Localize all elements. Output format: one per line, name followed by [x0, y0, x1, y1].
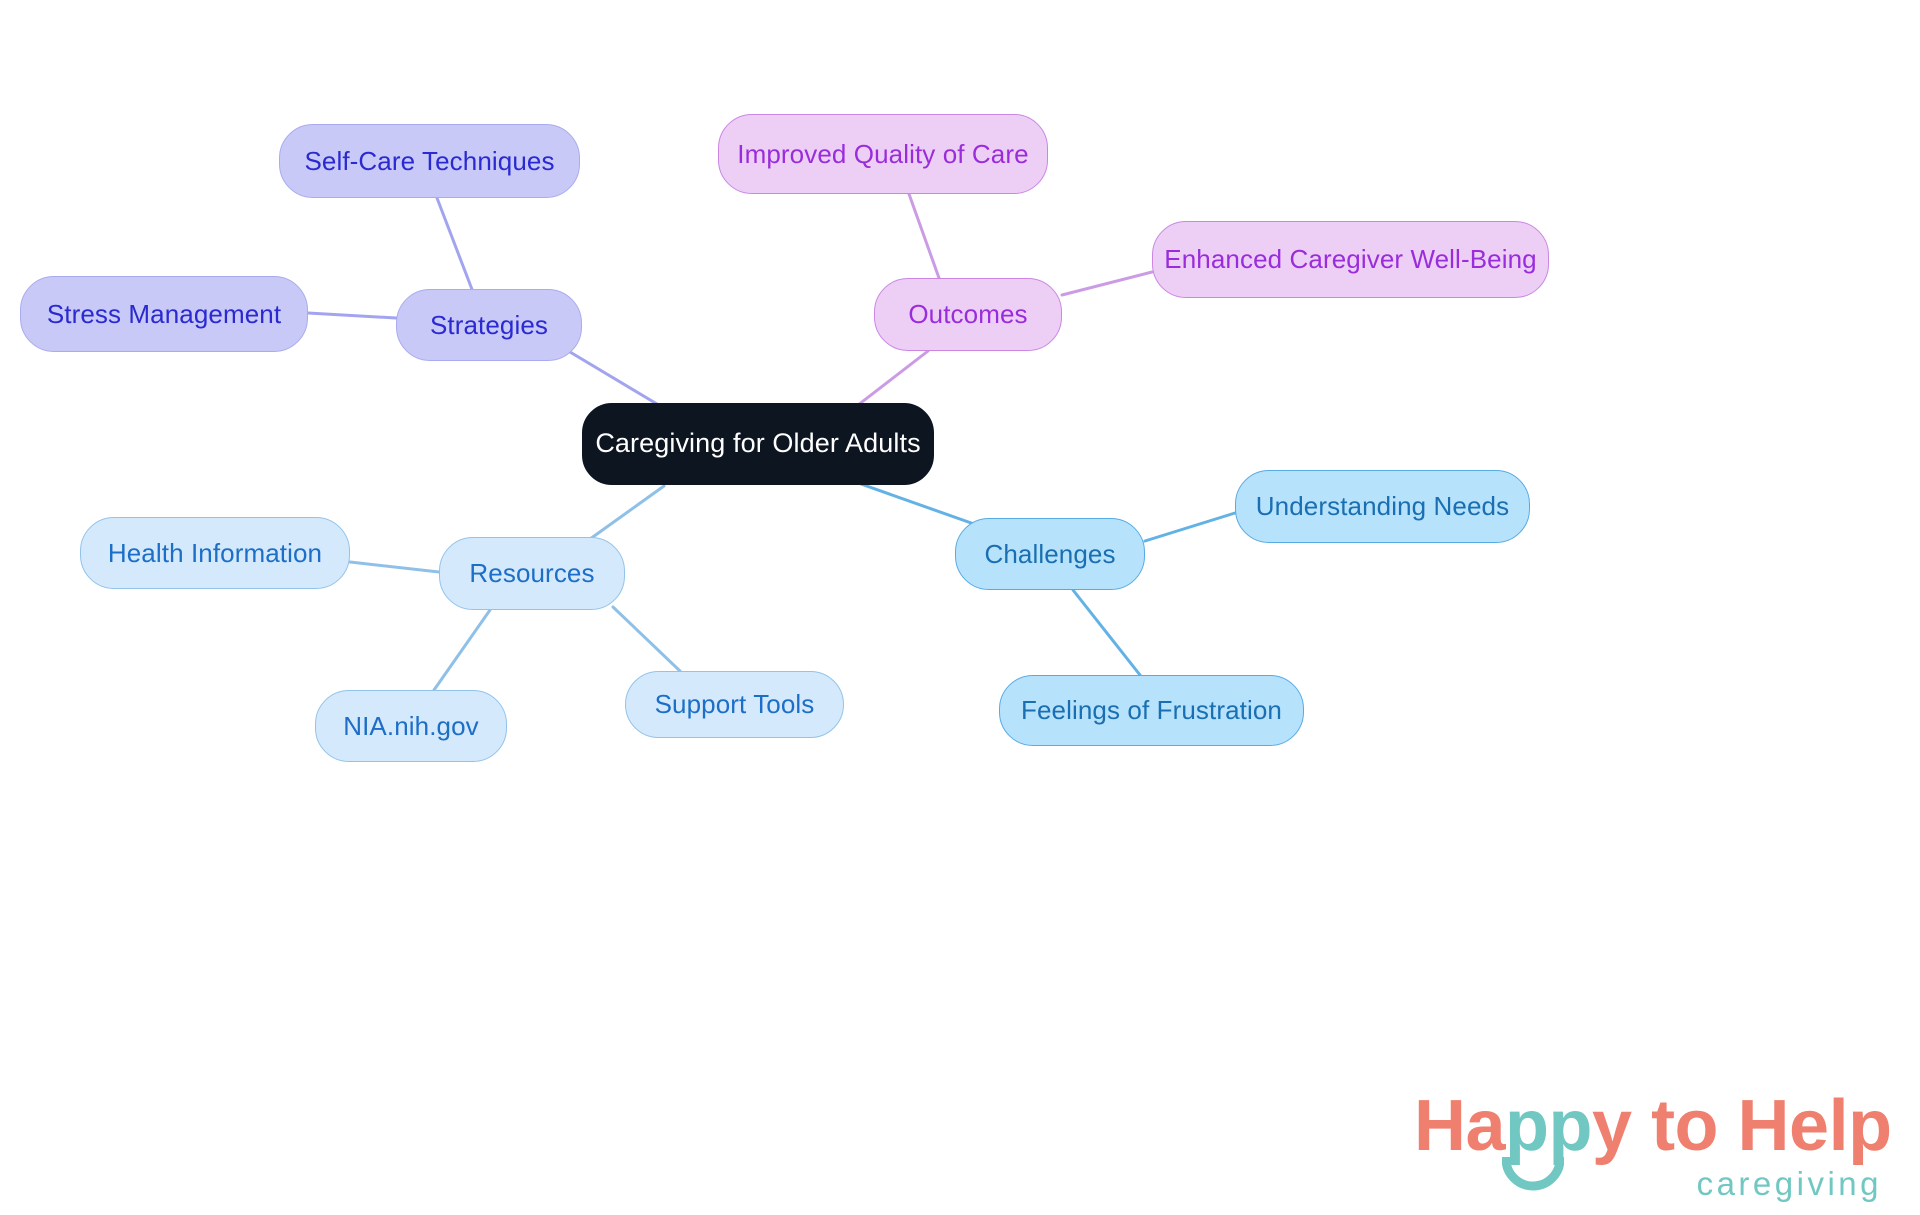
node-resources-label: Resources	[469, 559, 594, 588]
logo-wordmark: Happy to Help	[1414, 1085, 1892, 1167]
logo-text-ha: Ha	[1414, 1086, 1505, 1166]
node-enhanced-caregiver-well-being[interactable]: Enhanced Caregiver Well-Being	[1152, 221, 1549, 298]
logo-text-to-help: to Help	[1632, 1086, 1892, 1166]
edge-strategies-self-care	[437, 198, 473, 292]
edge-root-challenges	[861, 484, 974, 524]
node-strategies-label: Strategies	[430, 311, 548, 340]
node-resources[interactable]: Resources	[439, 537, 625, 610]
node-root[interactable]: Caregiving for Older Adults	[582, 403, 934, 485]
edge-challenges-feelings	[1073, 590, 1140, 675]
node-nia-nih-gov-label: NIA.nih.gov	[343, 712, 479, 741]
logo-text-y: y	[1592, 1086, 1632, 1166]
node-stress-management[interactable]: Stress Management	[20, 276, 308, 352]
brand-logo: Happy to Help caregiving	[1414, 1085, 1884, 1205]
edge-challenges-understanding	[1145, 513, 1235, 541]
node-understanding-needs-label: Understanding Needs	[1256, 492, 1509, 521]
node-challenges[interactable]: Challenges	[955, 518, 1145, 590]
node-self-care-techniques[interactable]: Self-Care Techniques	[279, 124, 580, 198]
node-enhanced-caregiver-well-being-label: Enhanced Caregiver Well-Being	[1164, 245, 1536, 274]
node-understanding-needs[interactable]: Understanding Needs	[1235, 470, 1530, 543]
edge-outcomes-improved	[909, 194, 939, 278]
node-health-information[interactable]: Health Information	[80, 517, 350, 589]
logo-text-pp: pp	[1505, 1086, 1592, 1166]
node-self-care-techniques-label: Self-Care Techniques	[304, 147, 554, 176]
node-improved-quality-of-care[interactable]: Improved Quality of Care	[718, 114, 1048, 194]
edge-resources-support	[613, 607, 680, 671]
edge-resources-health	[350, 562, 439, 572]
logo-tagline: caregiving	[1697, 1165, 1882, 1203]
node-root-label: Caregiving for Older Adults	[595, 429, 920, 459]
edge-strategies-stress	[308, 313, 396, 318]
edge-root-resources	[590, 486, 664, 539]
node-feelings-of-frustration-label: Feelings of Frustration	[1021, 696, 1282, 725]
node-health-information-label: Health Information	[108, 539, 322, 568]
node-outcomes[interactable]: Outcomes	[874, 278, 1062, 351]
node-nia-nih-gov[interactable]: NIA.nih.gov	[315, 690, 507, 762]
node-feelings-of-frustration[interactable]: Feelings of Frustration	[999, 675, 1304, 746]
edge-resources-nia	[434, 610, 490, 690]
node-challenges-label: Challenges	[984, 540, 1115, 569]
node-outcomes-label: Outcomes	[908, 300, 1027, 329]
mindmap-canvas: Caregiving for Older Adults Strategies S…	[0, 0, 1920, 1215]
node-support-tools[interactable]: Support Tools	[625, 671, 844, 738]
node-support-tools-label: Support Tools	[655, 690, 815, 719]
node-improved-quality-of-care-label: Improved Quality of Care	[737, 140, 1028, 169]
node-stress-management-label: Stress Management	[47, 300, 281, 329]
node-strategies[interactable]: Strategies	[396, 289, 582, 361]
smile-icon	[1502, 1157, 1564, 1191]
edge-outcomes-enhanced	[1062, 272, 1152, 295]
